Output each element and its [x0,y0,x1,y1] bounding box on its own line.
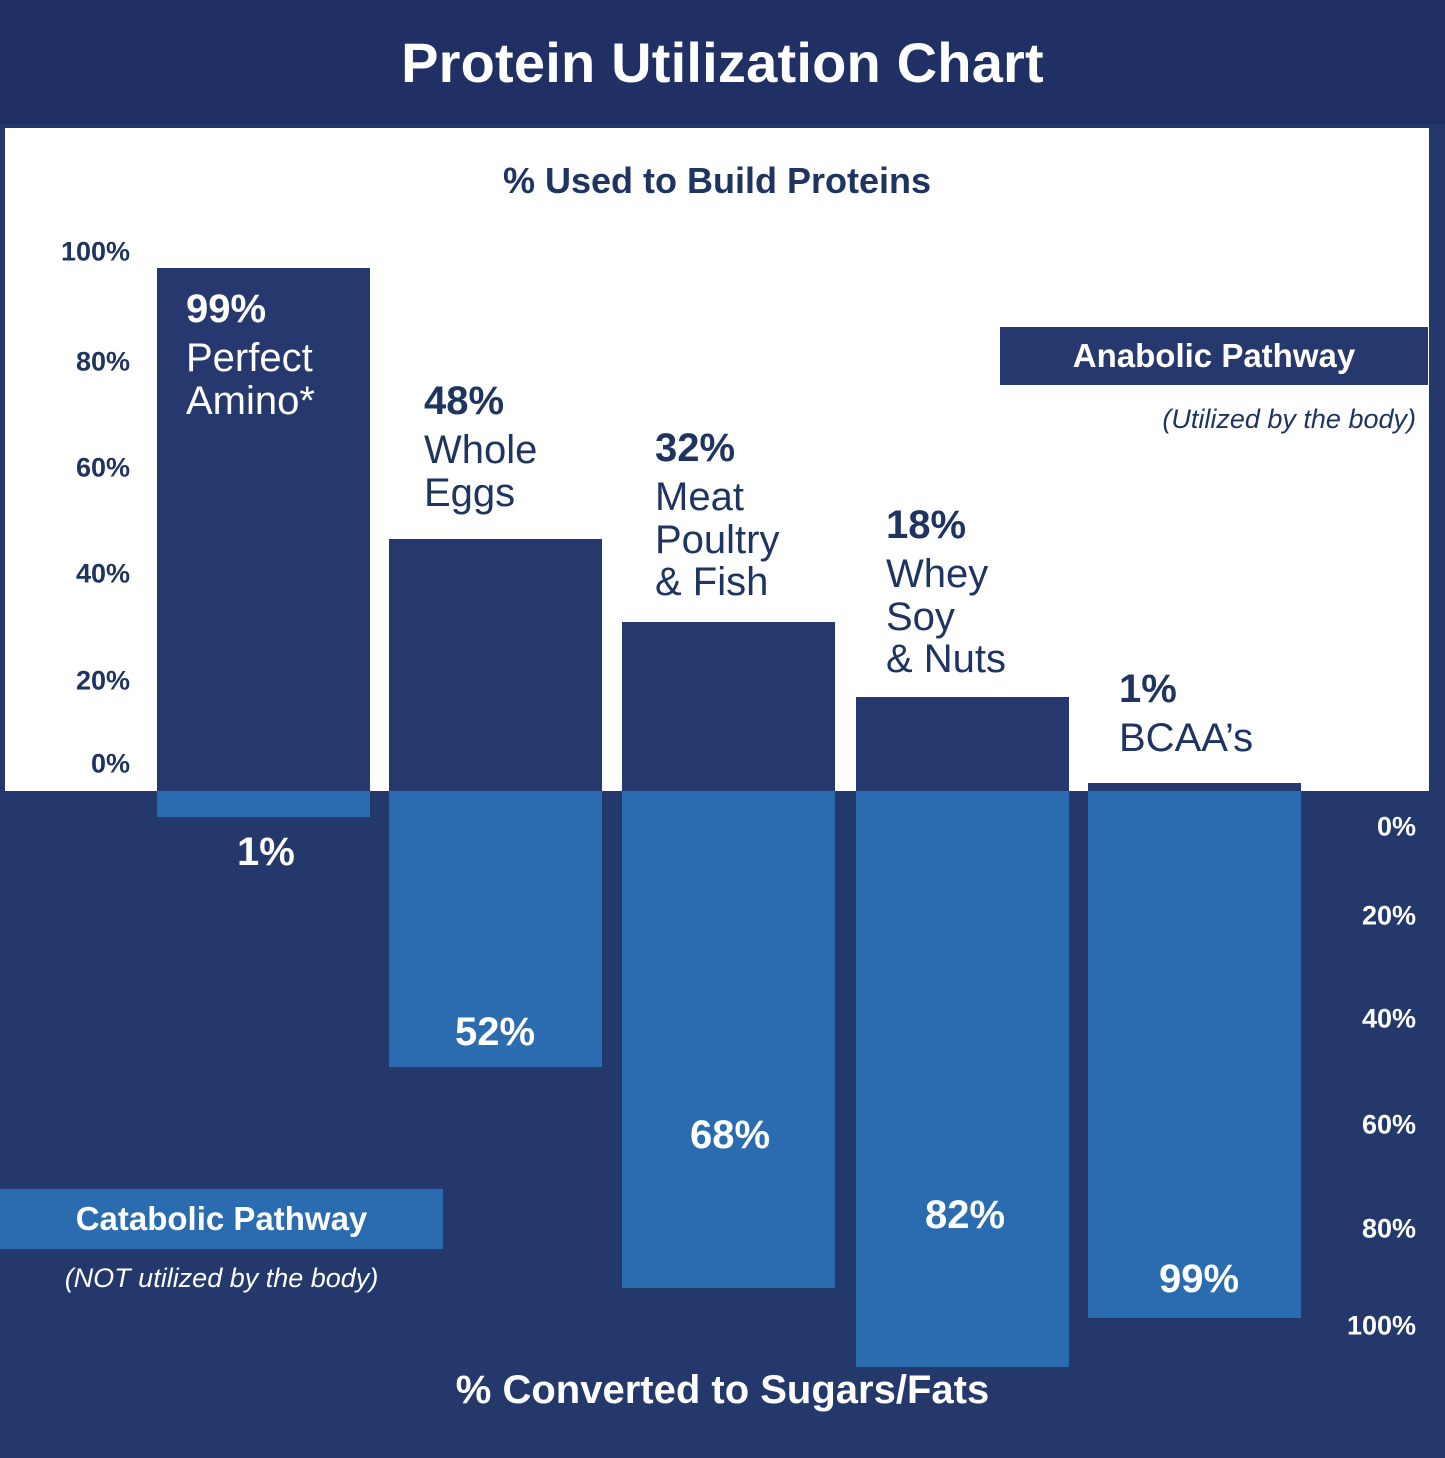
page-title: Protein Utilization Chart [401,30,1044,95]
bar-value-bottom-bcaas: 99% [1159,1257,1239,1302]
bar-value-bottom-perfect-amino: 1% [237,830,295,875]
bar-bottom-perfect-amino [157,791,370,817]
bar-value-bottom-meat-poultry-fish: 68% [690,1113,770,1158]
bar-value-top: 18% [886,504,1006,547]
badge-catabolic-pathway: Catabolic Pathway [0,1189,443,1249]
bar-value-top: 1% [1119,668,1253,711]
bar-top-whey-soy-nuts [856,697,1069,791]
badge-catabolic-label: Catabolic Pathway [76,1200,368,1238]
bar-top-meat-poultry-fish [622,622,835,791]
badge-anabolic-pathway: Anabolic Pathway [1000,327,1428,385]
bar-value-bottom-whey-soy-nuts: 82% [925,1193,1005,1238]
bar-name: PerfectAmino* [186,337,315,423]
bar-value-top: 32% [655,427,780,470]
bar-value-bottom-whole-eggs: 52% [455,1010,535,1055]
bar-label-whole-eggs: 48% WholeEggs [424,380,537,514]
bar-label-whey-soy-nuts: 18% WheySoy& Nuts [886,504,1006,681]
chart-canvas: Protein Utilization Chart % Used to Buil… [0,0,1445,1458]
plot-area: 99% PerfectAmino* 1% 48% WholeEggs 52% 3… [0,128,1445,1358]
bar-name: BCAA’s [1119,717,1253,760]
lower-axis-title: % Converted to Sugars/Fats [0,1368,1445,1413]
bar-label-meat-poultry-fish: 32% MeatPoultry& Fish [655,427,780,604]
badge-anabolic-note: (Utilized by the body) [1000,404,1428,435]
bar-value-top: 48% [424,380,537,423]
bar-bottom-bcaas [1088,791,1301,1318]
bar-label-perfect-amino: 99% PerfectAmino* [186,288,315,422]
bar-top-bcaas [1088,783,1301,791]
bar-name: WheySoy& Nuts [886,553,1006,681]
bar-name: WholeEggs [424,429,537,515]
bar-name: MeatPoultry& Fish [655,476,780,604]
badge-catabolic-note: (NOT utilized by the body) [0,1263,443,1294]
chart-header: Protein Utilization Chart [0,0,1445,124]
bar-top-whole-eggs [389,539,602,791]
bar-value-top: 99% [186,288,315,331]
bar-label-bcaas: 1% BCAA’s [1119,668,1253,760]
bar-bottom-meat-poultry-fish [622,791,835,1288]
bar-bottom-whey-soy-nuts [856,791,1069,1367]
badge-anabolic-label: Anabolic Pathway [1073,337,1355,375]
